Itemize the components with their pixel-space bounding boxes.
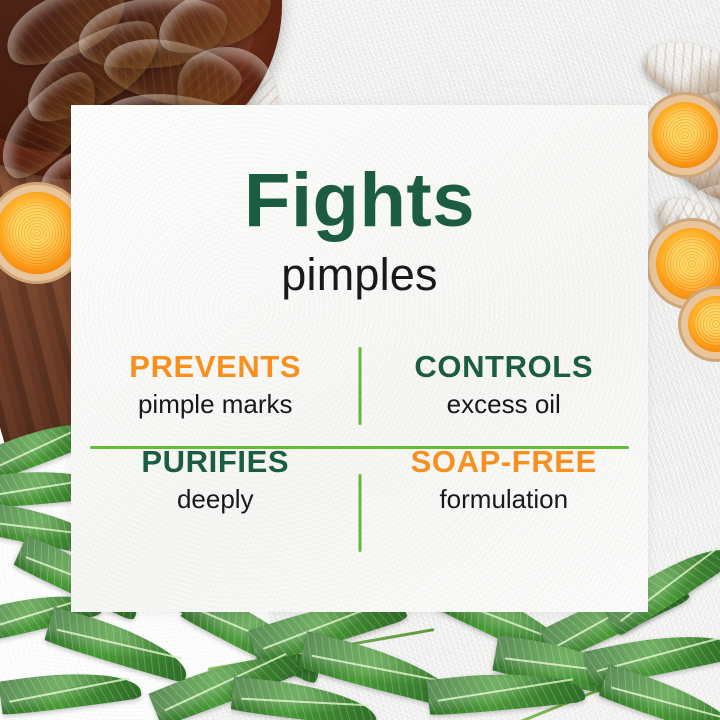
benefits-grid: PREVENTS pimple marks CONTROLS excess oi… <box>71 339 648 529</box>
neem-leaf <box>44 607 195 684</box>
turmeric-slice <box>688 296 720 352</box>
page-title: Fights <box>244 163 475 239</box>
turmeric-slice <box>652 102 718 168</box>
benefit-title: SOAP-FREE <box>378 444 631 479</box>
turmeric-slice <box>656 228 720 300</box>
benefit-description: excess oil <box>378 389 631 420</box>
benefit-description: pimple marks <box>89 389 342 420</box>
vertical-divider-bottom <box>358 474 361 552</box>
page-subtitle: pimples <box>281 252 437 297</box>
benefit-title: PREVENTS <box>89 349 342 384</box>
product-benefit-graphic: Fights pimples PREVENTS pimple marks CON… <box>0 0 720 720</box>
benefit-description: deeply <box>89 484 342 515</box>
horizontal-divider <box>90 446 629 449</box>
benefit-item-prevents: PREVENTS pimple marks <box>71 339 360 434</box>
benefit-title: PURIFIES <box>89 444 342 479</box>
benefit-title: CONTROLS <box>378 349 631 384</box>
neem-leaf <box>0 662 142 717</box>
benefits-card: Fights pimples PREVENTS pimple marks CON… <box>71 105 648 612</box>
vertical-divider-top <box>358 347 361 425</box>
benefit-item-controls: CONTROLS excess oil <box>360 339 649 434</box>
benefit-description: formulation <box>378 484 631 515</box>
